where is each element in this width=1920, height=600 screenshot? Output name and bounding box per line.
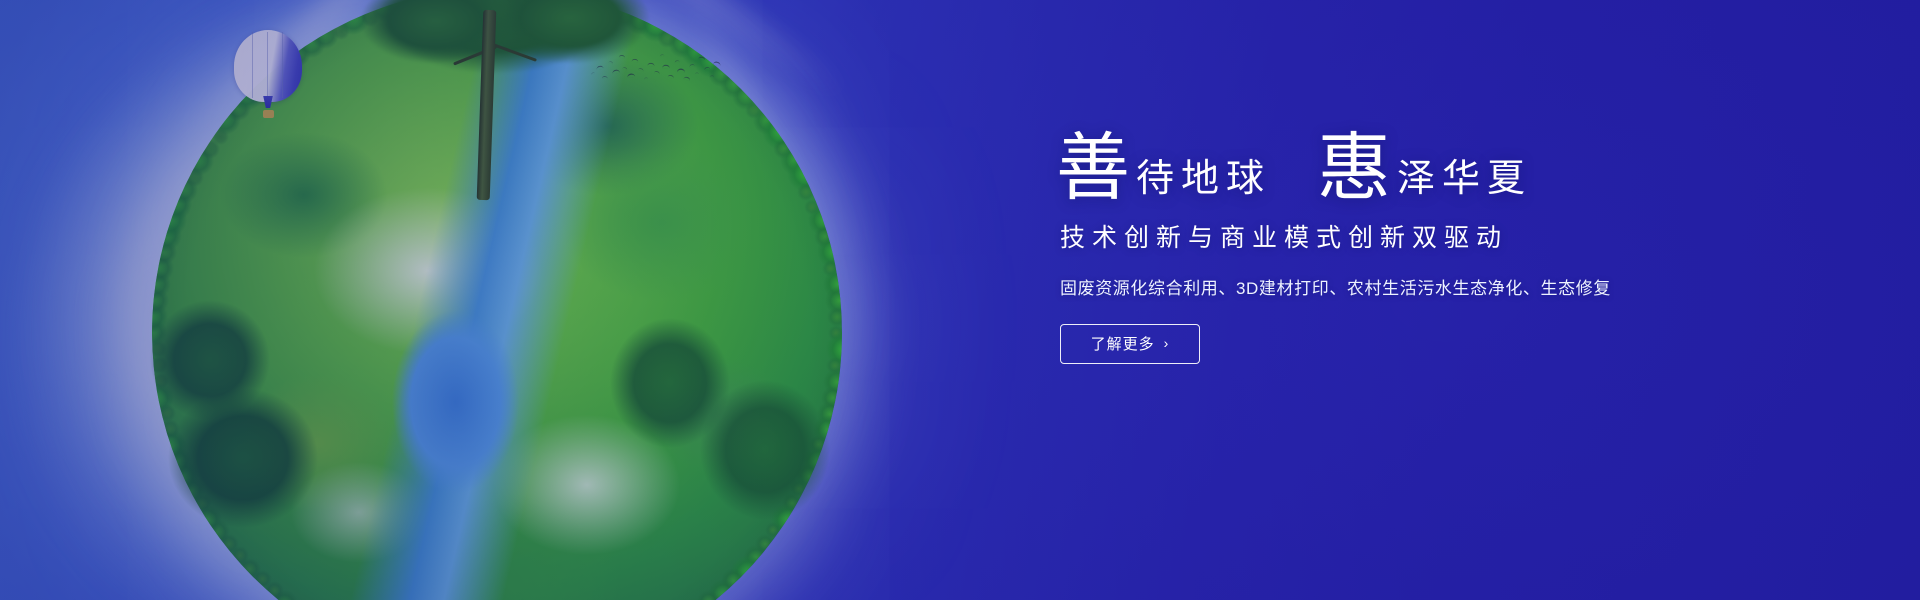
chevron-right-icon: ›	[1164, 336, 1170, 350]
hero-description: 固废资源化综合利用、3D建材打印、农村生活污水生态净化、生态修复	[1060, 274, 1816, 299]
hero-subtitle: 技术创新与商业模式创新双驱动	[1060, 218, 1816, 254]
learn-more-button[interactable]: 了解更多 ›	[1060, 324, 1200, 364]
headline-text-zehuaxia: 泽华夏	[1397, 159, 1532, 204]
headline-char-shan: 善	[1056, 134, 1130, 204]
headline-text-daidiqiu: 待地球	[1136, 159, 1271, 204]
hero-content: 善 待地球 惠 泽华夏 技术创新与商业模式创新双驱动 固废资源化综合利用、3D建…	[1056, 134, 1816, 364]
learn-more-label: 了解更多	[1091, 333, 1155, 354]
headline-char-hui: 惠	[1317, 134, 1391, 204]
page-title: 善 待地球 惠 泽华夏	[1056, 134, 1816, 204]
hero-banner: 善 待地球 惠 泽华夏 技术创新与商业模式创新双驱动 固废资源化综合利用、3D建…	[0, 0, 1920, 600]
